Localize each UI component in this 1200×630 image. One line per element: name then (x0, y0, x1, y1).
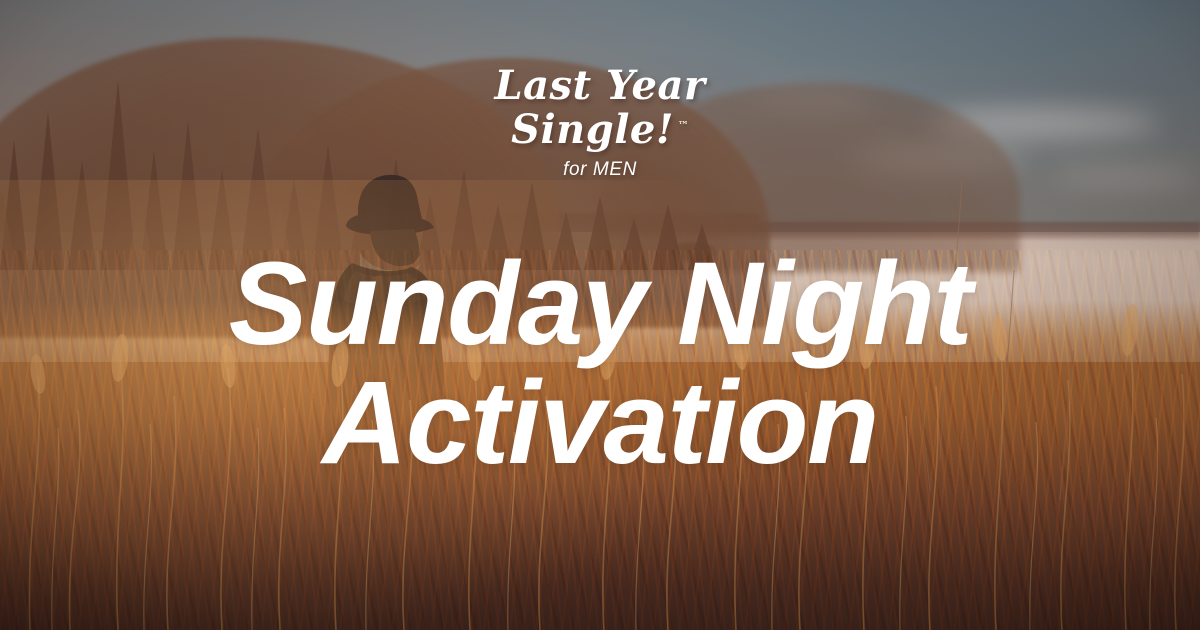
social-share-card: Last Year Single!™ for MEN Sunday Night … (0, 0, 1200, 630)
background-photo (0, 0, 1200, 630)
grass-stalks (0, 160, 1200, 630)
